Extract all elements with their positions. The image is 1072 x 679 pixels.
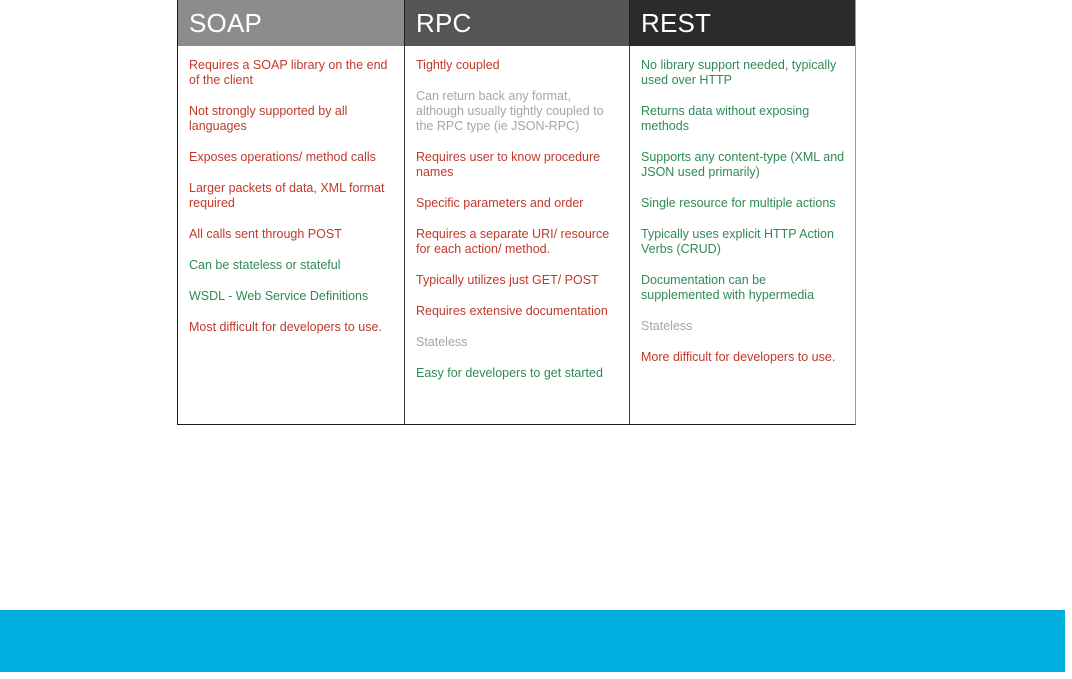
feature-item: Stateless	[416, 335, 619, 350]
feature-item: Requires extensive documentation	[416, 304, 619, 319]
feature-item: No library support needed, typically use…	[641, 58, 845, 88]
feature-item: Requires user to know procedure names	[416, 150, 619, 180]
column-header-soap: SOAP	[178, 0, 404, 46]
feature-item: Larger packets of data, XML format requi…	[189, 181, 394, 211]
feature-item: Tightly coupled	[416, 58, 619, 73]
feature-item: Supports any content-type (XML and JSON …	[641, 150, 845, 180]
feature-item: Typically utilizes just GET/ POST	[416, 273, 619, 288]
column-body-rpc: Tightly coupled Can return back any form…	[404, 46, 629, 424]
feature-item: Single resource for multiple actions	[641, 196, 845, 211]
feature-item: Requires a separate URI/ resource for ea…	[416, 227, 619, 257]
column-header-rest: REST	[629, 0, 855, 46]
table-header-row: SOAP RPC REST	[178, 0, 855, 46]
feature-item: Stateless	[641, 319, 845, 334]
table-body-row: Requires a SOAP library on the end of th…	[178, 46, 855, 424]
feature-item: All calls sent through POST	[189, 227, 394, 242]
api-comparison-table: SOAP RPC REST Requires a SOAP library on…	[177, 0, 856, 425]
feature-item: Most difficult for developers to use.	[189, 320, 394, 335]
feature-item: More difficult for developers to use.	[641, 350, 845, 365]
feature-item: Typically uses explicit HTTP Action Verb…	[641, 227, 845, 257]
feature-item: Exposes operations/ method calls	[189, 150, 394, 165]
feature-item: Requires a SOAP library on the end of th…	[189, 58, 394, 88]
feature-item: Can return back any format, although usu…	[416, 89, 619, 134]
bottom-accent-bar	[0, 610, 1065, 672]
feature-item: Not strongly supported by all languages	[189, 104, 394, 134]
feature-item: Easy for developers to get started	[416, 366, 619, 381]
column-body-rest: No library support needed, typically use…	[629, 46, 855, 424]
feature-item: Documentation can be supplemented with h…	[641, 273, 845, 303]
column-header-rpc: RPC	[404, 0, 629, 46]
feature-item: Specific parameters and order	[416, 196, 619, 211]
feature-item: WSDL - Web Service Definitions	[189, 289, 394, 304]
feature-item: Returns data without exposing methods	[641, 104, 845, 134]
column-body-soap: Requires a SOAP library on the end of th…	[178, 46, 404, 424]
feature-item: Can be stateless or stateful	[189, 258, 394, 273]
